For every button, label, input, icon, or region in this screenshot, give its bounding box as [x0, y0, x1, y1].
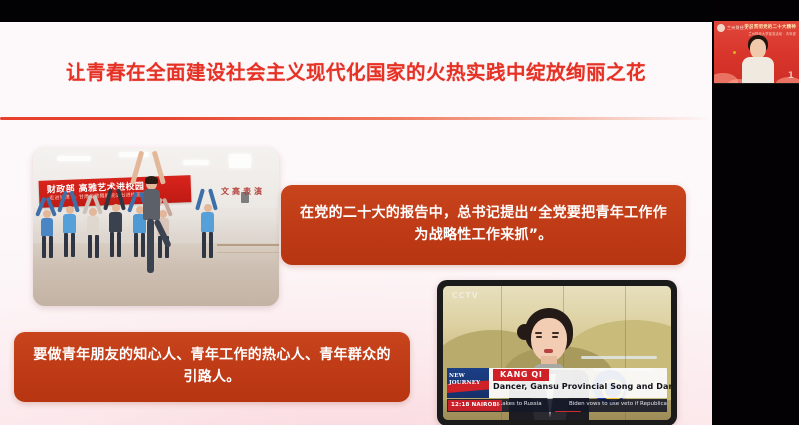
ballet-barre: [217, 252, 279, 253]
webcam-banner-title: 学习贯彻党的二十大精神: [744, 24, 796, 30]
screen-root: 让青春在全面建设社会主义现代化国家的火热实践中绽放绚丽之花 文高表演 财政部 高…: [0, 0, 799, 425]
program-logo-box: NEW JOURNEY: [447, 368, 489, 398]
mural-river: [581, 356, 657, 359]
ceiling-light: [57, 156, 91, 161]
ceiling-light: [119, 152, 149, 157]
news-ticker: 12:18 NAIROBI ...akes to Russia Biden vo…: [447, 399, 667, 412]
cctv-logo: CCTV: [452, 291, 479, 300]
ticker-time-location: 12:18 NAIROBI: [448, 400, 502, 411]
ballet-barre: [217, 244, 279, 246]
cctv-bug-icon: [555, 411, 581, 412]
ticker-headline-2: Biden vows to use veto if Republicans wi…: [569, 401, 667, 407]
quote-box-party-report: 在党的二十大的报告中，总书记提出“全党要把青年工作作为战略性工作来抓”。: [281, 185, 686, 265]
ceiling-light: [229, 154, 251, 168]
webcam-participant-tile[interactable]: 兰州财经大学 学习贯彻党的二十大精神 兰州财经大学宣讲活动 · 青年说 1: [714, 21, 799, 84]
wall-calligraphy: 文高表演: [221, 186, 265, 197]
participant-avatar: [742, 35, 774, 83]
title-divider: [0, 117, 712, 120]
dance-rehearsal-photo: 文高表演 财政部 高雅艺术进校园 走进甘肃 — 甘肃省歌舞剧院演出进校园活动: [33, 148, 279, 306]
quote-box-youth-work: 要做青年朋友的知心人、青年工作的热心人、青年群众的引路人。: [14, 332, 410, 402]
page-title: 让青春在全面建设社会主义现代化国家的火热实践中绽放绚丽之花: [0, 56, 712, 85]
speaker-name: KANG QI: [493, 369, 549, 381]
tile-number: 1: [788, 71, 794, 81]
ticker-headline-1: ...akes to Russia: [497, 401, 542, 407]
news-video-frame: CCTV: [443, 286, 671, 420]
lower-third-banner: NEW JOURNEY KANG QI Dancer, Gansu Provin…: [447, 368, 667, 398]
ceiling-light: [183, 160, 209, 165]
presentation-slide: 让青春在全面建设社会主义现代化国家的火热实践中绽放绚丽之花 文高表演 财政部 高…: [0, 22, 712, 425]
speaker-role: Dancer, Gansu Provincial Song and Dance …: [493, 382, 671, 391]
top-letterbox-bar: [0, 0, 799, 22]
lapel-pin-icon: [733, 51, 736, 54]
university-emblem-icon: [717, 24, 725, 32]
news-interview-clip: CCTV: [437, 280, 677, 425]
program-logo-text: NEW JOURNEY: [449, 373, 487, 387]
